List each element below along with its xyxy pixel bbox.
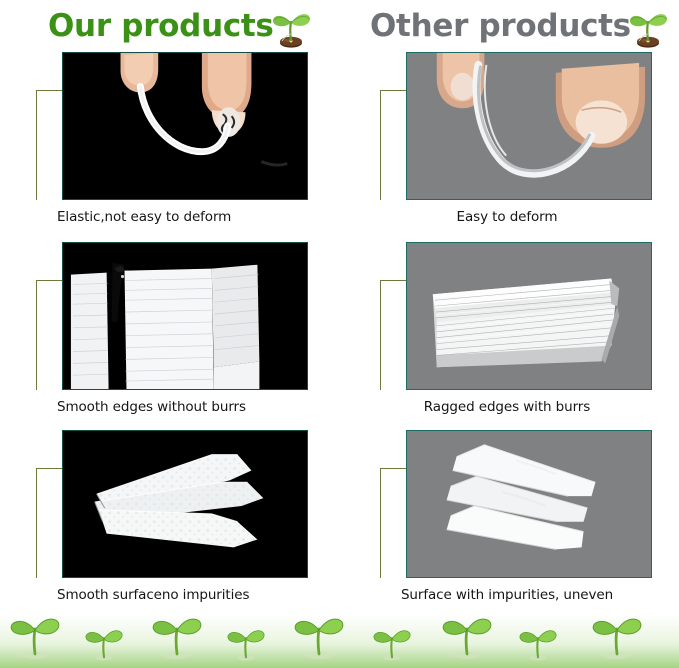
sprout-icon — [588, 614, 646, 664]
product-photo — [62, 52, 308, 200]
ours-title-block: Our products — [48, 2, 314, 50]
sprout-icon — [268, 4, 314, 50]
photo-artwork-hand-bending-deformed-strip — [407, 53, 651, 199]
sprout-icon — [438, 614, 496, 664]
product-photo — [406, 242, 652, 390]
card-ours-row2: Smooth edges without burrs — [36, 242, 318, 423]
caption-ours-row2: Smooth edges without burrs — [36, 390, 286, 423]
product-photo — [62, 430, 308, 578]
photo-artwork-textured-pointed-labels — [63, 431, 307, 577]
card-others-row2: Ragged edges with burrs — [380, 242, 662, 423]
ours-title: Our products — [48, 11, 274, 42]
sprout-icon — [370, 623, 414, 666]
card-others-row1: Easy to deform — [380, 52, 662, 233]
caption-ours-row1: Elastic,not easy to deform — [36, 200, 286, 233]
card-ours-row3: Smooth surfaceno impurities — [36, 430, 318, 611]
caption-ours-row3: Smooth surfaceno impurities — [36, 578, 286, 611]
sprout-icon — [148, 614, 206, 664]
product-photo — [62, 242, 308, 390]
photo-artwork-ragged-edge-stack — [407, 243, 651, 389]
photo-artwork-hand-bending-flexible-strip — [63, 53, 307, 199]
sprout-icon — [625, 4, 671, 50]
infographic-page: Our products Other products — [0, 0, 679, 668]
sprout-icon — [224, 623, 268, 666]
photo-artwork-smooth-edge-stack — [63, 243, 307, 389]
photo-artwork-plain-uneven-labels — [407, 431, 651, 577]
footer-sprout-border — [0, 614, 679, 668]
comparison-grid: Elastic,not easy to deform — [0, 52, 679, 614]
card-ours-row1: Elastic,not easy to deform — [36, 52, 318, 233]
sprout-icon — [290, 614, 348, 664]
sprout-icon — [6, 614, 64, 664]
caption-others-row1: Easy to deform — [380, 200, 630, 233]
headers: Our products Other products — [0, 0, 679, 52]
caption-others-row2: Ragged edges with burrs — [380, 390, 630, 423]
others-title: Other products — [370, 11, 631, 42]
sprout-icon — [82, 623, 126, 666]
others-title-block: Other products — [370, 2, 671, 50]
sprout-icon — [516, 623, 560, 666]
card-others-row3: Surface with impurities, uneven — [380, 430, 662, 611]
product-photo — [406, 52, 652, 200]
caption-others-row3: Surface with impurities, uneven — [380, 578, 630, 611]
product-photo — [406, 430, 652, 578]
